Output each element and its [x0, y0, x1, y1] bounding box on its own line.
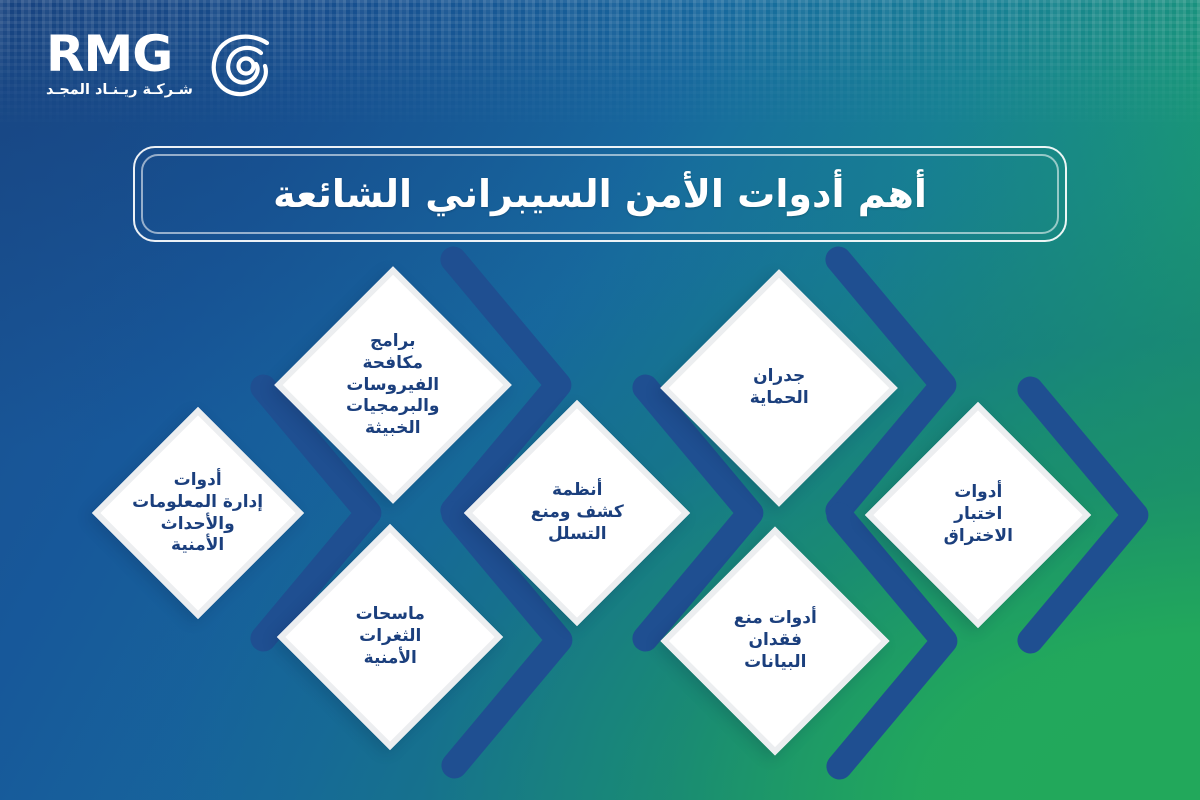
diamond-label: جدران الحماية [701, 366, 857, 410]
chevron-arrows-layer [0, 0, 1200, 800]
diamond-label: برامج مكافحة الفيروسات والبرمجيات الخبيث… [315, 331, 471, 440]
diamond-label: أنظمة كشف ومنع التسلل [503, 480, 651, 545]
infographic-canvas: RMG شـركـة ريـنـاد المجـد أهم أدوات الأم… [0, 0, 1200, 800]
diamond-label: ماسحات الثغرات الأمنية [316, 604, 464, 669]
diamond-label: أدوات اختبار الاختراق [904, 482, 1052, 547]
diamond-label: أدوات إدارة المعلومات والأحداث الأمنية [129, 470, 267, 557]
diamond-label: أدوات منع فقدان البيانات [700, 608, 850, 673]
